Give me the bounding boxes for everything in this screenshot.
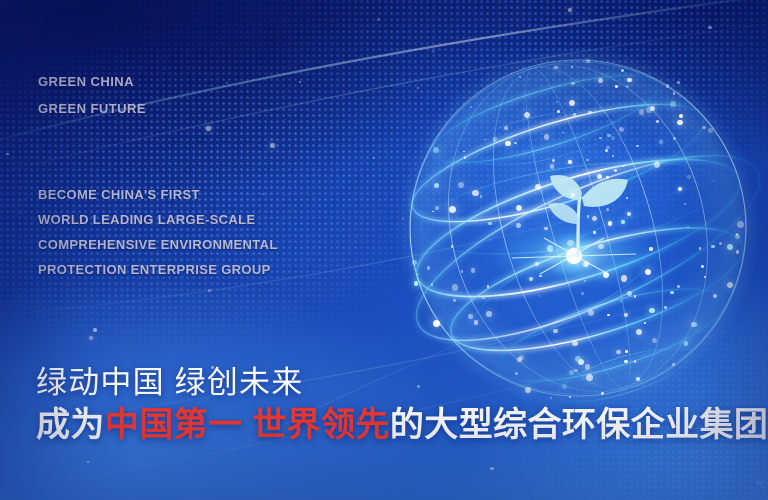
tagline-line-1: GREEN CHINA [38, 68, 146, 95]
promo-banner: GREEN CHINA GREEN FUTURE BECOME CHINA'S … [0, 0, 768, 500]
headline-gap [242, 406, 252, 444]
headline-line-1: 绿动中国 绿创未来 [36, 363, 768, 403]
tagline-line-2: GREEN FUTURE [38, 95, 146, 122]
tagline-english: GREEN CHINA GREEN FUTURE [38, 68, 146, 122]
mission-line-3: COMPREHENSIVE ENVIRONMENTAL [38, 232, 278, 257]
mission-line-1: BECOME CHINA'S FIRST [38, 182, 278, 207]
headline-prefix: 成为 [36, 406, 105, 444]
mission-line-4: PROTECTION ENTERPRISE GROUP [38, 257, 278, 282]
wireframe-globe [392, 42, 764, 414]
headline-accent-china-first: 中国第一 [105, 406, 243, 444]
headline-chinese: 绿动中国 绿创未来 成为中国第一 世界领先的大型综合环保企业集团 [36, 363, 768, 447]
headline-suffix: 的大型综合环保企业集团 [390, 406, 768, 444]
mission-statement-english: BECOME CHINA'S FIRST WORLD LEADING LARGE… [38, 182, 278, 282]
headline-line-2: 成为中国第一 世界领先的大型综合环保企业集团 [36, 403, 768, 447]
headline-accent-world-leading: 世界领先 [252, 406, 390, 444]
mission-line-2: WORLD LEADING LARGE-SCALE [38, 207, 278, 232]
